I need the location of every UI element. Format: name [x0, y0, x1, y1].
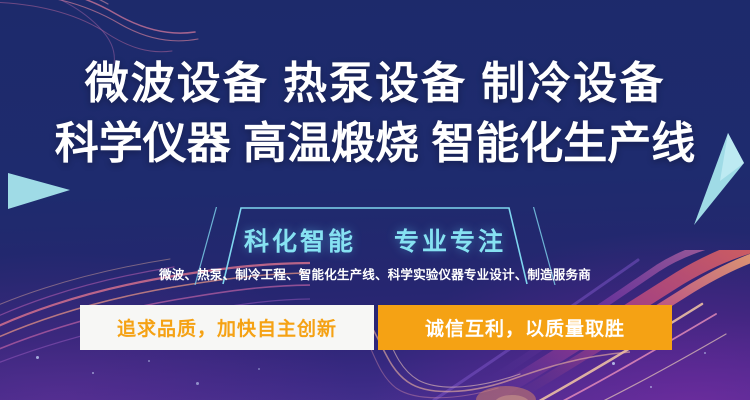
- subtitle-text: 微波、热泵、制冷工程、智能化生产线、科学实验仪器专业设计、制造服务商: [150, 264, 600, 283]
- particle-dot: [196, 382, 199, 385]
- headline-line-1: 微波设备 热泵设备 制冷设备: [0, 62, 750, 106]
- promo-banner: 微波设备 热泵设备 制冷设备 科学仪器 高温煅烧 智能化生产线 科化智能 专业专…: [0, 0, 750, 400]
- particle-dot: [92, 372, 94, 374]
- slogan-box-left: 追求品质，加快自主创新: [80, 305, 374, 350]
- slogan-block: 科化智能 专业专注: [165, 222, 585, 258]
- particle-dot: [704, 352, 706, 354]
- headline-block: 微波设备 热泵设备 制冷设备 科学仪器 高温煅烧 智能化生产线: [0, 62, 750, 166]
- particle-dot: [148, 360, 150, 362]
- slogan-left: 科化智能: [244, 228, 356, 256]
- triangle-right-icon: [8, 163, 70, 209]
- particle-dot: [650, 386, 652, 388]
- bottom-slogan-bar: 追求品质，加快自主创新 诚信互利，以质量取胜: [80, 305, 672, 350]
- particle-dot: [258, 368, 260, 370]
- particle-dot: [612, 362, 615, 365]
- slogan-right: 专业专注: [394, 228, 506, 256]
- particle-dot: [36, 356, 39, 359]
- slogan-box-right: 诚信互利，以质量取胜: [378, 305, 672, 350]
- headline-line-2: 科学仪器 高温煅烧 智能化生产线: [0, 122, 750, 166]
